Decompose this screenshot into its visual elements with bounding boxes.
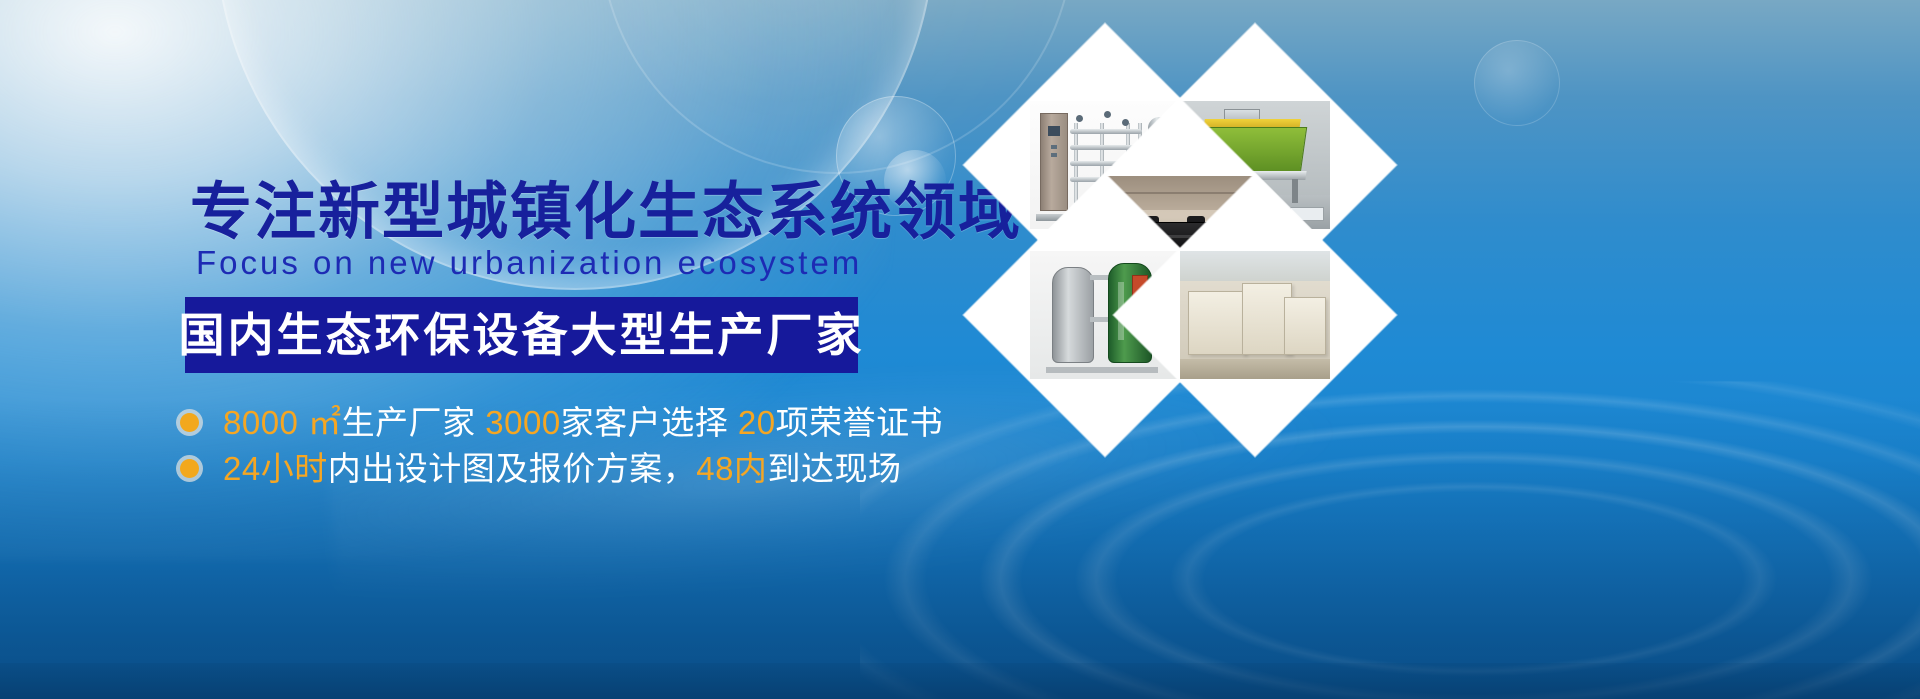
photo-stacked-building-blocks	[1180, 251, 1330, 379]
banner-headline: 专注新型城镇化生态系统领域	[190, 182, 1022, 244]
feature-line-2-text: 24小时内出设计图及报价方案，48内到达现场	[223, 452, 901, 485]
feature-line-1-text: 8000 ㎡生产厂家 3000家客户选择 20项荣誉证书	[223, 406, 943, 439]
banner-text-column: 专注新型城镇化生态系统领域 Focus on new urbanization …	[0, 0, 920, 699]
dot-bullet-icon	[180, 459, 199, 478]
hero-banner: 专注新型城镇化生态系统领域 Focus on new urbanization …	[0, 0, 1920, 699]
banner-subheadline: Focus on new urbanization ecosystem	[196, 246, 862, 279]
dot-bullet-icon	[180, 413, 199, 432]
banner-highlight-box: 国内生态环保设备大型生产厂家	[185, 297, 858, 373]
diamond-photo-gallery	[905, 0, 1920, 699]
banner-highlight-text: 国内生态环保设备大型生产厂家	[179, 312, 865, 358]
feature-line-1: 8000 ㎡生产厂家 3000家客户选择 20项荣誉证书	[180, 406, 943, 439]
feature-line-2: 24小时内出设计图及报价方案，48内到达现场	[180, 452, 901, 485]
